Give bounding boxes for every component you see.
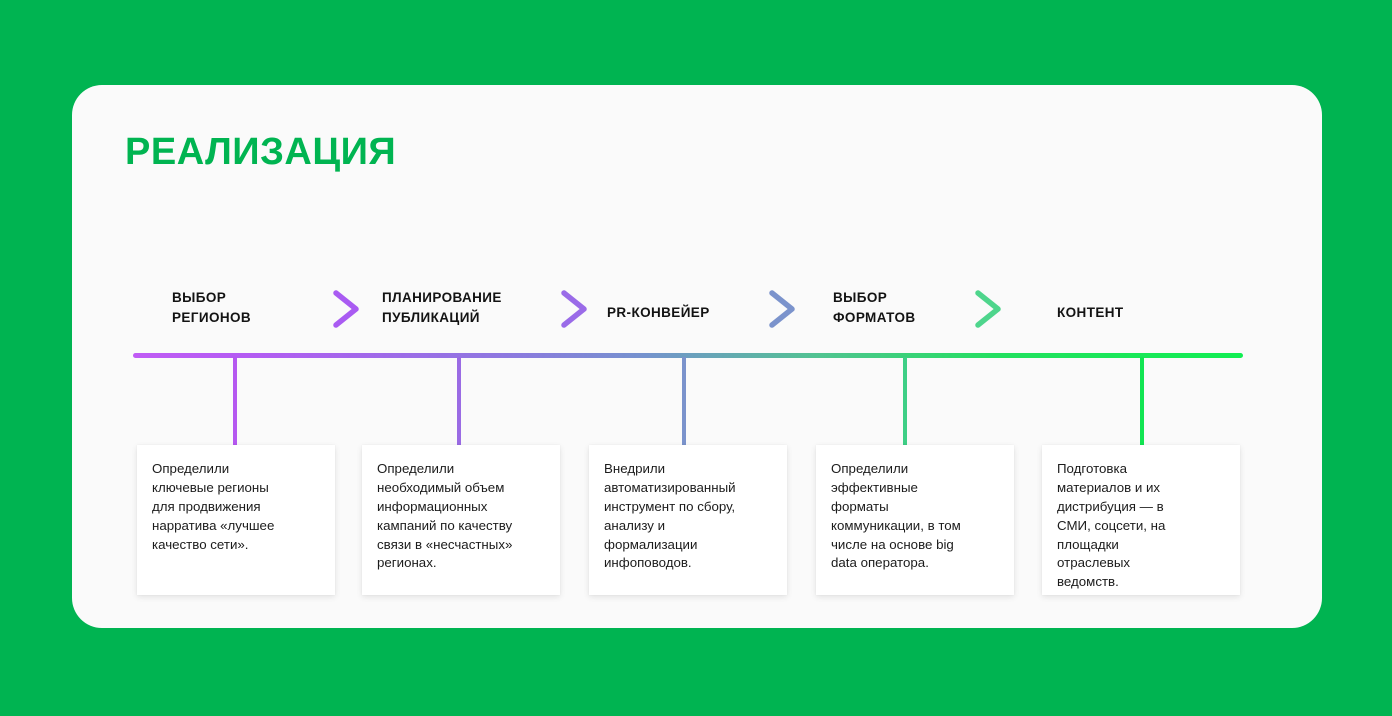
- slide-canvas: РЕАЛИЗАЦИЯ ВЫБОР РЕГИОНОВОпределили ключ…: [0, 0, 1392, 716]
- page-title: РЕАЛИЗАЦИЯ: [125, 131, 396, 174]
- timeline-axis: [133, 353, 1243, 358]
